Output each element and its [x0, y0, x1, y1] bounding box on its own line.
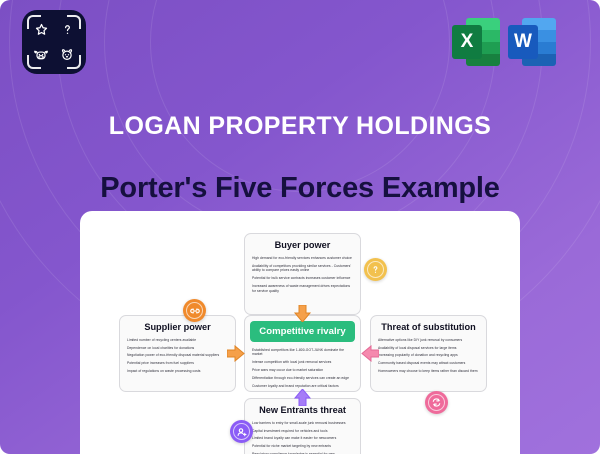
brand-logo[interactable] [22, 10, 86, 74]
force-item-list: Alternative options like DIY junk remova… [371, 336, 486, 381]
arrow-buyer-to-rivalry [293, 305, 312, 322]
force-box-competitive-rivalry[interactable]: Competitive rivalry Established competit… [244, 315, 361, 392]
badge-supplier-link-icon[interactable] [183, 299, 206, 322]
force-item-list: Established competitors like 1-800-GOT-J… [245, 346, 360, 392]
list-item: Established competitors like 1-800-GOT-J… [252, 346, 353, 359]
word-icon[interactable]: W [508, 18, 556, 66]
force-box-buyer-power[interactable]: Buyer power High demand for eco-friendly… [244, 233, 361, 315]
excel-icon[interactable]: X [452, 18, 500, 66]
list-item: Alternative options like DIY junk remova… [378, 336, 479, 344]
company-name: LOGAN PROPERTY HOLDINGS [0, 112, 600, 141]
force-box-threat-of-substitution[interactable]: Threat of substitution Alternative optio… [370, 315, 487, 392]
question-mark-icon [55, 17, 79, 41]
list-item: Differentiation through eco-friendly ser… [252, 375, 353, 383]
diagram-card: Buyer power High demand for eco-friendly… [80, 211, 520, 454]
word-letter: W [508, 25, 538, 59]
list-item: Limited number of recycling centers avai… [127, 336, 228, 344]
list-item: Availability of local disposal services … [378, 344, 479, 352]
arrow-supplier-to-rivalry [227, 345, 245, 362]
arrow-substitution-to-rivalry [361, 345, 379, 362]
list-item: Community based disposal events may attr… [378, 360, 479, 368]
star-icon [29, 17, 53, 41]
list-item: Capital investment required for vehicles… [252, 427, 353, 435]
list-item: Homeowners may choose to keep items rath… [378, 368, 479, 376]
force-item-list: Low barriers to entry for small-scale ju… [245, 419, 360, 454]
badge-buyer-question-icon[interactable] [364, 258, 387, 281]
list-item: Increasing popularity of donation and re… [378, 352, 479, 360]
list-item: Impact of regulations on waste processin… [127, 368, 228, 376]
list-item: Limited brand loyalty can make it easier… [252, 435, 353, 443]
force-item-list: Limited number of recycling centers avai… [120, 336, 235, 381]
force-item-list: High demand for eco-friendly services en… [245, 254, 360, 300]
force-box-supplier-power[interactable]: Supplier power Limited number of recycli… [119, 315, 236, 392]
badge-substitution-recycle-icon[interactable] [425, 391, 448, 414]
force-box-new-entrants-threat[interactable]: New Entrants threat Low barriers to entr… [244, 398, 361, 454]
porters-five-forces-diagram: Buyer power High demand for eco-friendly… [80, 211, 520, 454]
list-item: Potential for bulk service contracts inc… [252, 275, 353, 283]
list-item: Dependence on local charities for donati… [127, 344, 228, 352]
excel-letter: X [452, 25, 482, 59]
list-item: Price wars may occur due to market satur… [252, 367, 353, 375]
arrow-entrants-to-rivalry [293, 389, 312, 406]
list-item: Availability of competitors providing si… [252, 262, 353, 275]
force-title: Competitive rivalry [250, 321, 355, 342]
badge-entrants-adduser-icon[interactable] [230, 420, 253, 443]
list-item: Intense competition with local junk remo… [252, 359, 353, 367]
list-item: Low barriers to entry for small-scale ju… [252, 419, 353, 427]
list-item: Potential price increases from fuel supp… [127, 360, 228, 368]
force-title: Buyer power [245, 234, 360, 254]
list-item: Potential for niche market targeting by … [252, 443, 353, 451]
slide-canvas: X W LOGAN PROPERTY HOLDINGS Porter's Fiv… [0, 0, 600, 454]
list-item: High demand for eco-friendly services en… [252, 254, 353, 262]
dog-icon [55, 43, 79, 67]
cow-icon [29, 43, 53, 67]
force-title: Supplier power [120, 316, 235, 336]
decor-arc [150, 0, 450, 192]
page-title: Porter's Five Forces Example [0, 172, 600, 205]
force-title: Threat of substitution [371, 316, 486, 336]
list-item: Negotiation power of eco-friendly dispos… [127, 352, 228, 360]
list-item: Increased awareness of waste management … [252, 283, 353, 296]
